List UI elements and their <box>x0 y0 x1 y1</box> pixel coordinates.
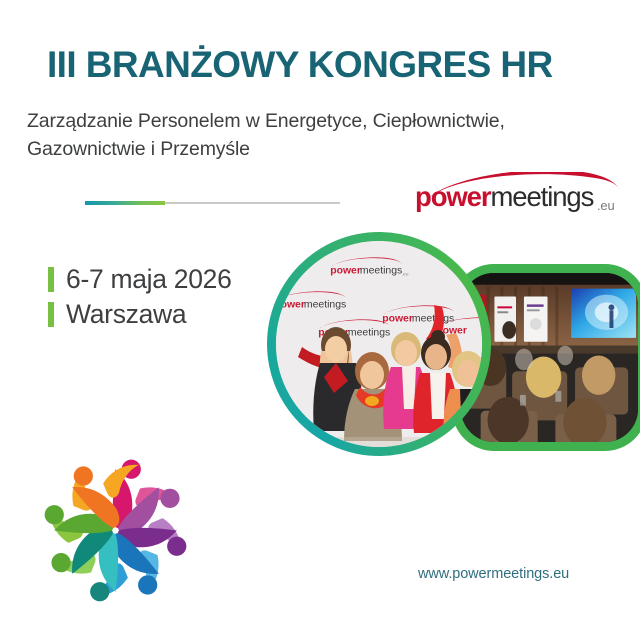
svg-text:meetings: meetings <box>348 327 390 338</box>
divider-accent <box>85 201 165 205</box>
marker-bar-icon <box>48 302 54 327</box>
event-city-row: Warszawa <box>48 297 232 332</box>
logo-word-meetings: meetings <box>490 181 593 212</box>
svg-text:power: power <box>382 313 413 324</box>
footer-website-url[interactable]: www.powermeetings.eu <box>418 566 569 582</box>
logo-word-power: power <box>415 181 490 212</box>
page-title: III BRANŻOWY KONGRES HR <box>47 44 553 86</box>
svg-text:meetings: meetings <box>412 313 454 324</box>
svg-text:.eu: .eu <box>402 273 409 278</box>
powermeetings-logo: powermeetings .eu <box>413 172 628 220</box>
svg-text:power: power <box>276 299 305 310</box>
page-subtitle: Zarządzanie Personelem w Energetyce, Cie… <box>27 107 587 163</box>
group-celebration-photo-image: power meetings .eu power meetings power … <box>276 241 482 447</box>
divider <box>85 202 340 204</box>
svg-text:meetings: meetings <box>304 299 346 310</box>
event-details: 6-7 maja 2026 Warszawa <box>48 262 232 332</box>
marker-bar-icon <box>48 267 54 292</box>
group-celebration-photo: power meetings .eu power meetings power … <box>267 232 491 456</box>
event-dates: 6-7 maja 2026 <box>66 264 232 295</box>
svg-text:power: power <box>330 265 361 276</box>
logo-wordmark: powermeetings <box>415 183 593 211</box>
poster-canvas: III BRANŻOWY KONGRES HR Zarządzanie Pers… <box>0 0 640 640</box>
event-date-row: 6-7 maja 2026 <box>48 262 232 297</box>
svg-text:meetings: meetings <box>360 265 402 276</box>
logo-tld: .eu <box>597 198 614 213</box>
event-city: Warszawa <box>66 299 186 330</box>
subtitle-line-1: Zarządzanie Personelem w Energetyce, Cie… <box>27 107 587 135</box>
people-circle-emblem <box>28 443 203 618</box>
subtitle-line-2: Gazownictwie i Przemyśle <box>27 135 587 163</box>
